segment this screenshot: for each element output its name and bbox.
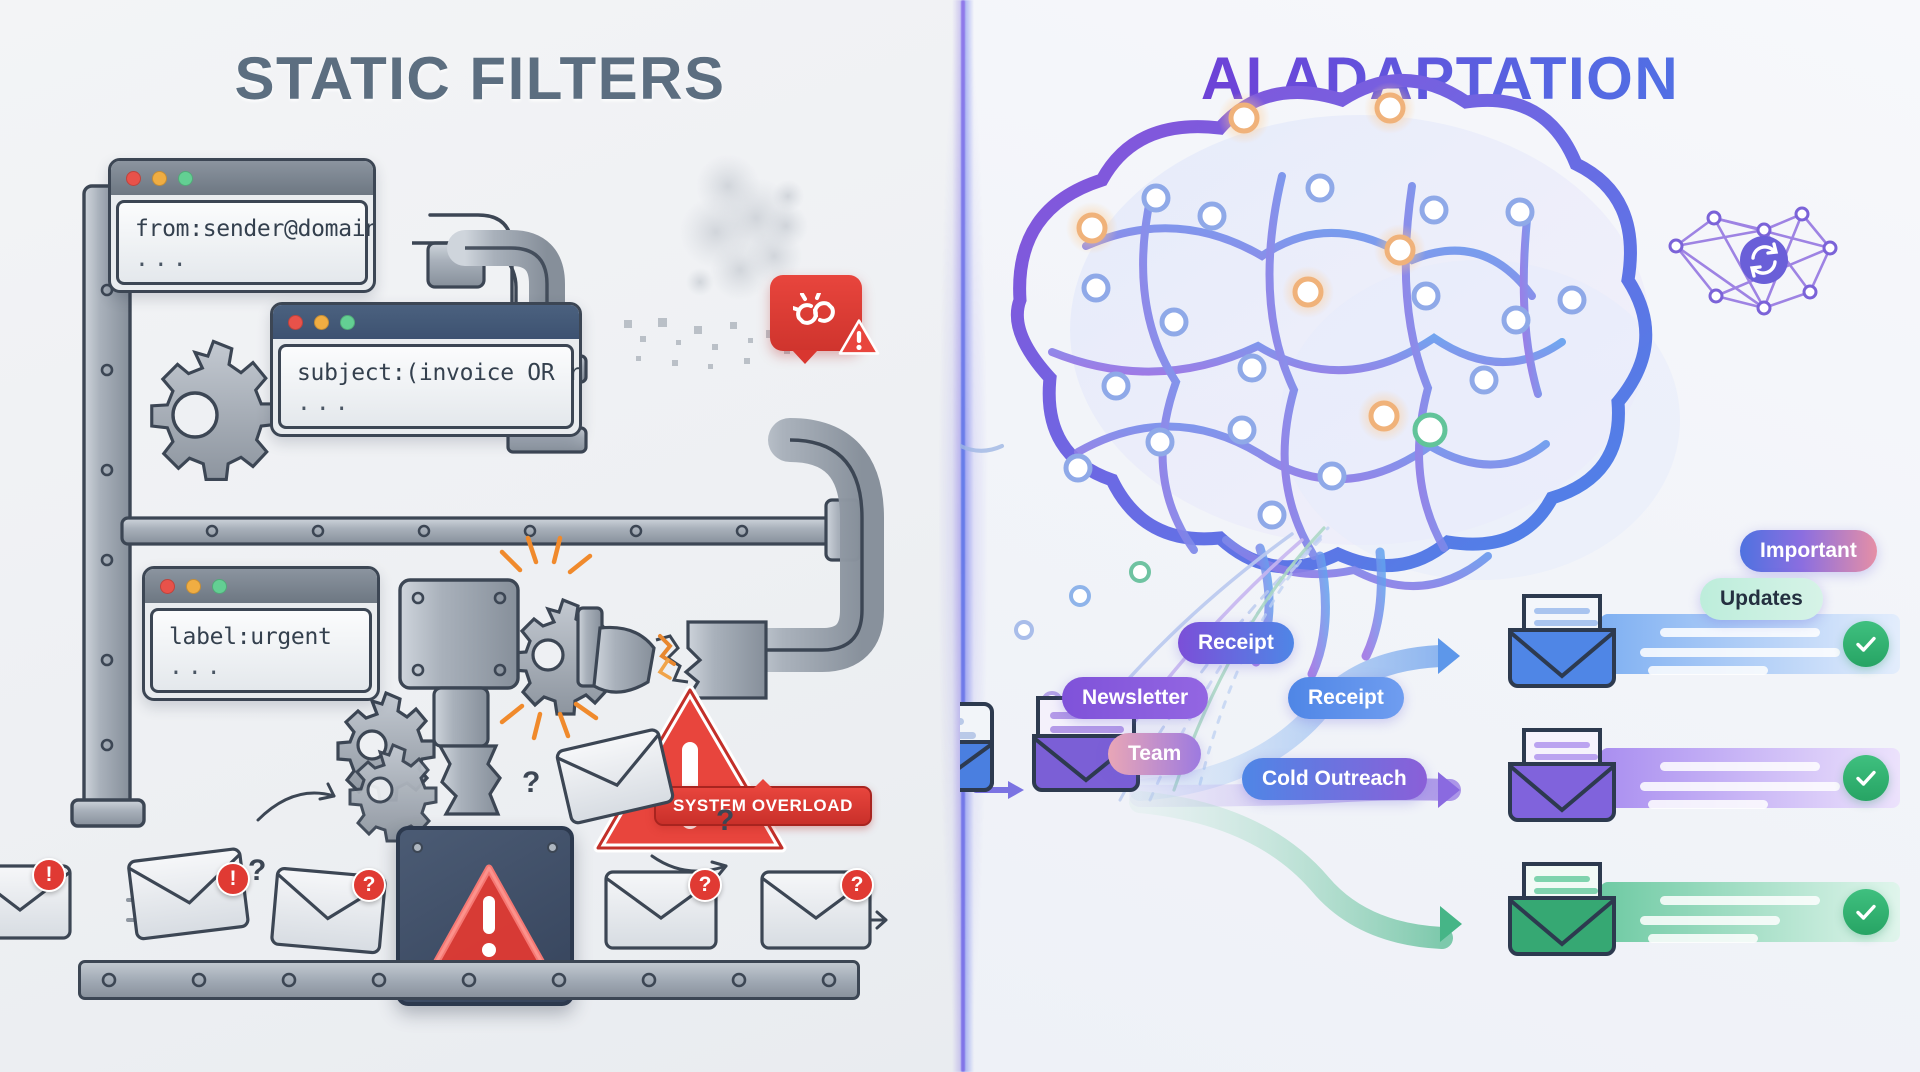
link-alert-triangle-icon <box>838 318 880 356</box>
check-icon <box>1854 900 1878 924</box>
filter-rule-ellipsis: ... <box>297 390 555 416</box>
label-pill-updates[interactable]: Updates <box>1700 578 1823 620</box>
traffic-light-yellow-icon[interactable] <box>314 315 329 330</box>
check-icon <box>1854 632 1878 656</box>
window-body: subject:(invoice OR receipt) ... <box>278 344 574 429</box>
window-titlebar <box>273 305 579 339</box>
conveyor-belt <box>78 960 860 1000</box>
envelope-badge-1: ! <box>216 862 250 896</box>
traffic-light-green-icon[interactable] <box>340 315 355 330</box>
traffic-light-yellow-icon[interactable] <box>186 579 201 594</box>
refresh-circle <box>1740 236 1788 284</box>
result-flow-arrowheads <box>1438 638 1462 942</box>
conveyor-rollers <box>81 963 857 997</box>
neural-refresh-badge <box>1670 208 1836 314</box>
label-pill-receipt-2[interactable]: Receipt <box>1288 677 1404 719</box>
window-body: label:urgent ... <box>150 608 372 693</box>
envelope-badge-2: ? <box>352 868 386 902</box>
code-window-subject[interactable]: subject:(invoice OR receipt) ... <box>270 302 582 437</box>
result-envelope-1 <box>1510 596 1614 686</box>
brain-tendrils <box>960 416 1002 476</box>
filter-rule-text: subject:(invoice OR receipt) <box>297 360 555 386</box>
system-overload-triangle-icon <box>590 680 790 858</box>
code-window-from[interactable]: from:sender@domain.com ... <box>108 158 376 293</box>
label-pill-cold-outreach[interactable]: Cold Outreach <box>1242 758 1427 800</box>
illustration-canvas: STATIC FILTERS <box>0 0 1920 1072</box>
traffic-light-green-icon[interactable] <box>212 579 227 594</box>
result-check-2 <box>1843 755 1889 801</box>
filter-rule-ellipsis: ... <box>135 246 349 272</box>
label-pill-team[interactable]: Team <box>1108 733 1201 775</box>
window-titlebar <box>111 161 373 195</box>
node-green <box>1415 415 1445 445</box>
pipeline-envelope-2 <box>960 704 992 790</box>
traffic-light-red-icon[interactable] <box>126 171 141 186</box>
result-check-3 <box>1843 889 1889 935</box>
system-overload-badge: SYSTEM OVERLOAD <box>654 786 872 826</box>
envelope-badge-4: ? <box>840 868 874 902</box>
result-envelope-3 <box>1510 864 1614 954</box>
filter-rule-text: from:sender@domain.com <box>135 216 349 242</box>
code-window-label[interactable]: label:urgent ... <box>142 566 380 701</box>
broken-link-icon <box>793 293 839 333</box>
filter-rule-ellipsis: ... <box>169 654 353 680</box>
label-pill-important[interactable]: Important <box>1740 530 1877 572</box>
envelope-badge-3: ? <box>688 868 722 902</box>
label-pill-receipt-1[interactable]: Receipt <box>1178 622 1294 664</box>
label-pill-newsletter[interactable]: Newsletter <box>1062 677 1208 719</box>
filter-rule-text: label:urgent <box>169 624 353 650</box>
traffic-light-yellow-icon[interactable] <box>152 171 167 186</box>
envelope-badge-0: ! <box>32 858 66 892</box>
traffic-light-green-icon[interactable] <box>178 171 193 186</box>
window-titlebar <box>145 569 377 603</box>
traffic-light-red-icon[interactable] <box>160 579 175 594</box>
traffic-light-red-icon[interactable] <box>288 315 303 330</box>
check-icon <box>1854 766 1878 790</box>
result-check-1 <box>1843 621 1889 667</box>
window-body: from:sender@domain.com ... <box>116 200 368 285</box>
result-envelope-2 <box>1510 730 1614 820</box>
